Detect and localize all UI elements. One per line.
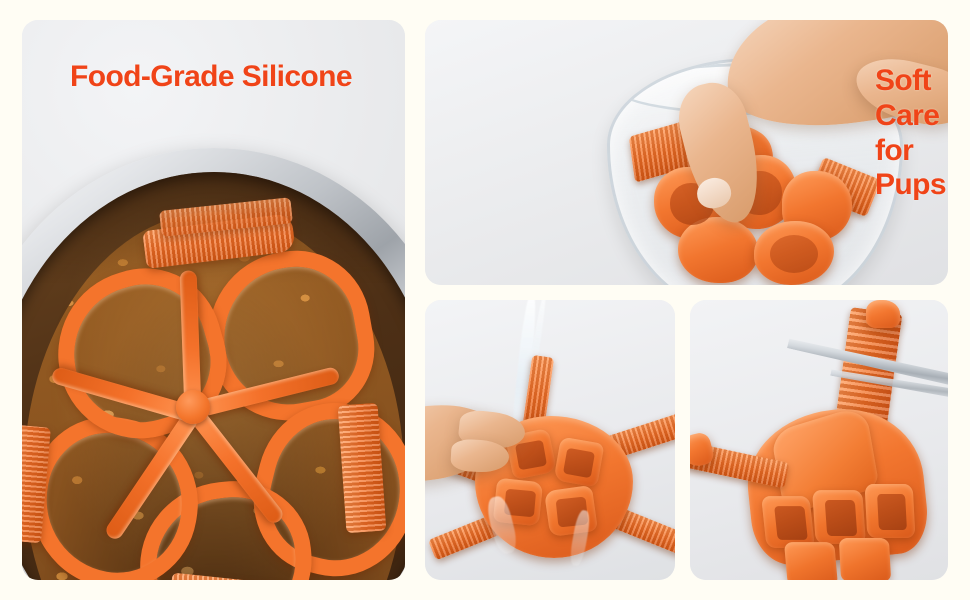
caption-soft-care-for-pups: Soft Care for Pups: [875, 64, 948, 203]
silicone-well: [515, 440, 547, 470]
silicone-well: [877, 494, 907, 530]
panel-food-grade-silicone: Food-Grade Silicone: [22, 20, 405, 580]
silicone-well: [825, 500, 858, 536]
silicone-cell: [784, 542, 838, 580]
silicone-well: [563, 448, 595, 478]
silicone-cup: [678, 217, 758, 283]
panel-soft-care-for-pups: Soft Care for Pups: [425, 20, 948, 285]
silicone-tab-knob: [866, 300, 900, 328]
silicone-well: [770, 235, 818, 273]
panel-easy-to-clean: Easy to Clean: [425, 300, 675, 580]
divider-hub: [176, 390, 210, 424]
silicone-insert: [24, 228, 404, 580]
panel-cuttable: Cuttable: [690, 300, 948, 580]
feature-collage: Food-Grade Silicone: [0, 0, 970, 600]
silicone-well: [774, 506, 808, 540]
caption-food-grade-silicone: Food-Grade Silicone: [70, 60, 352, 95]
silicone-cell: [839, 538, 891, 580]
